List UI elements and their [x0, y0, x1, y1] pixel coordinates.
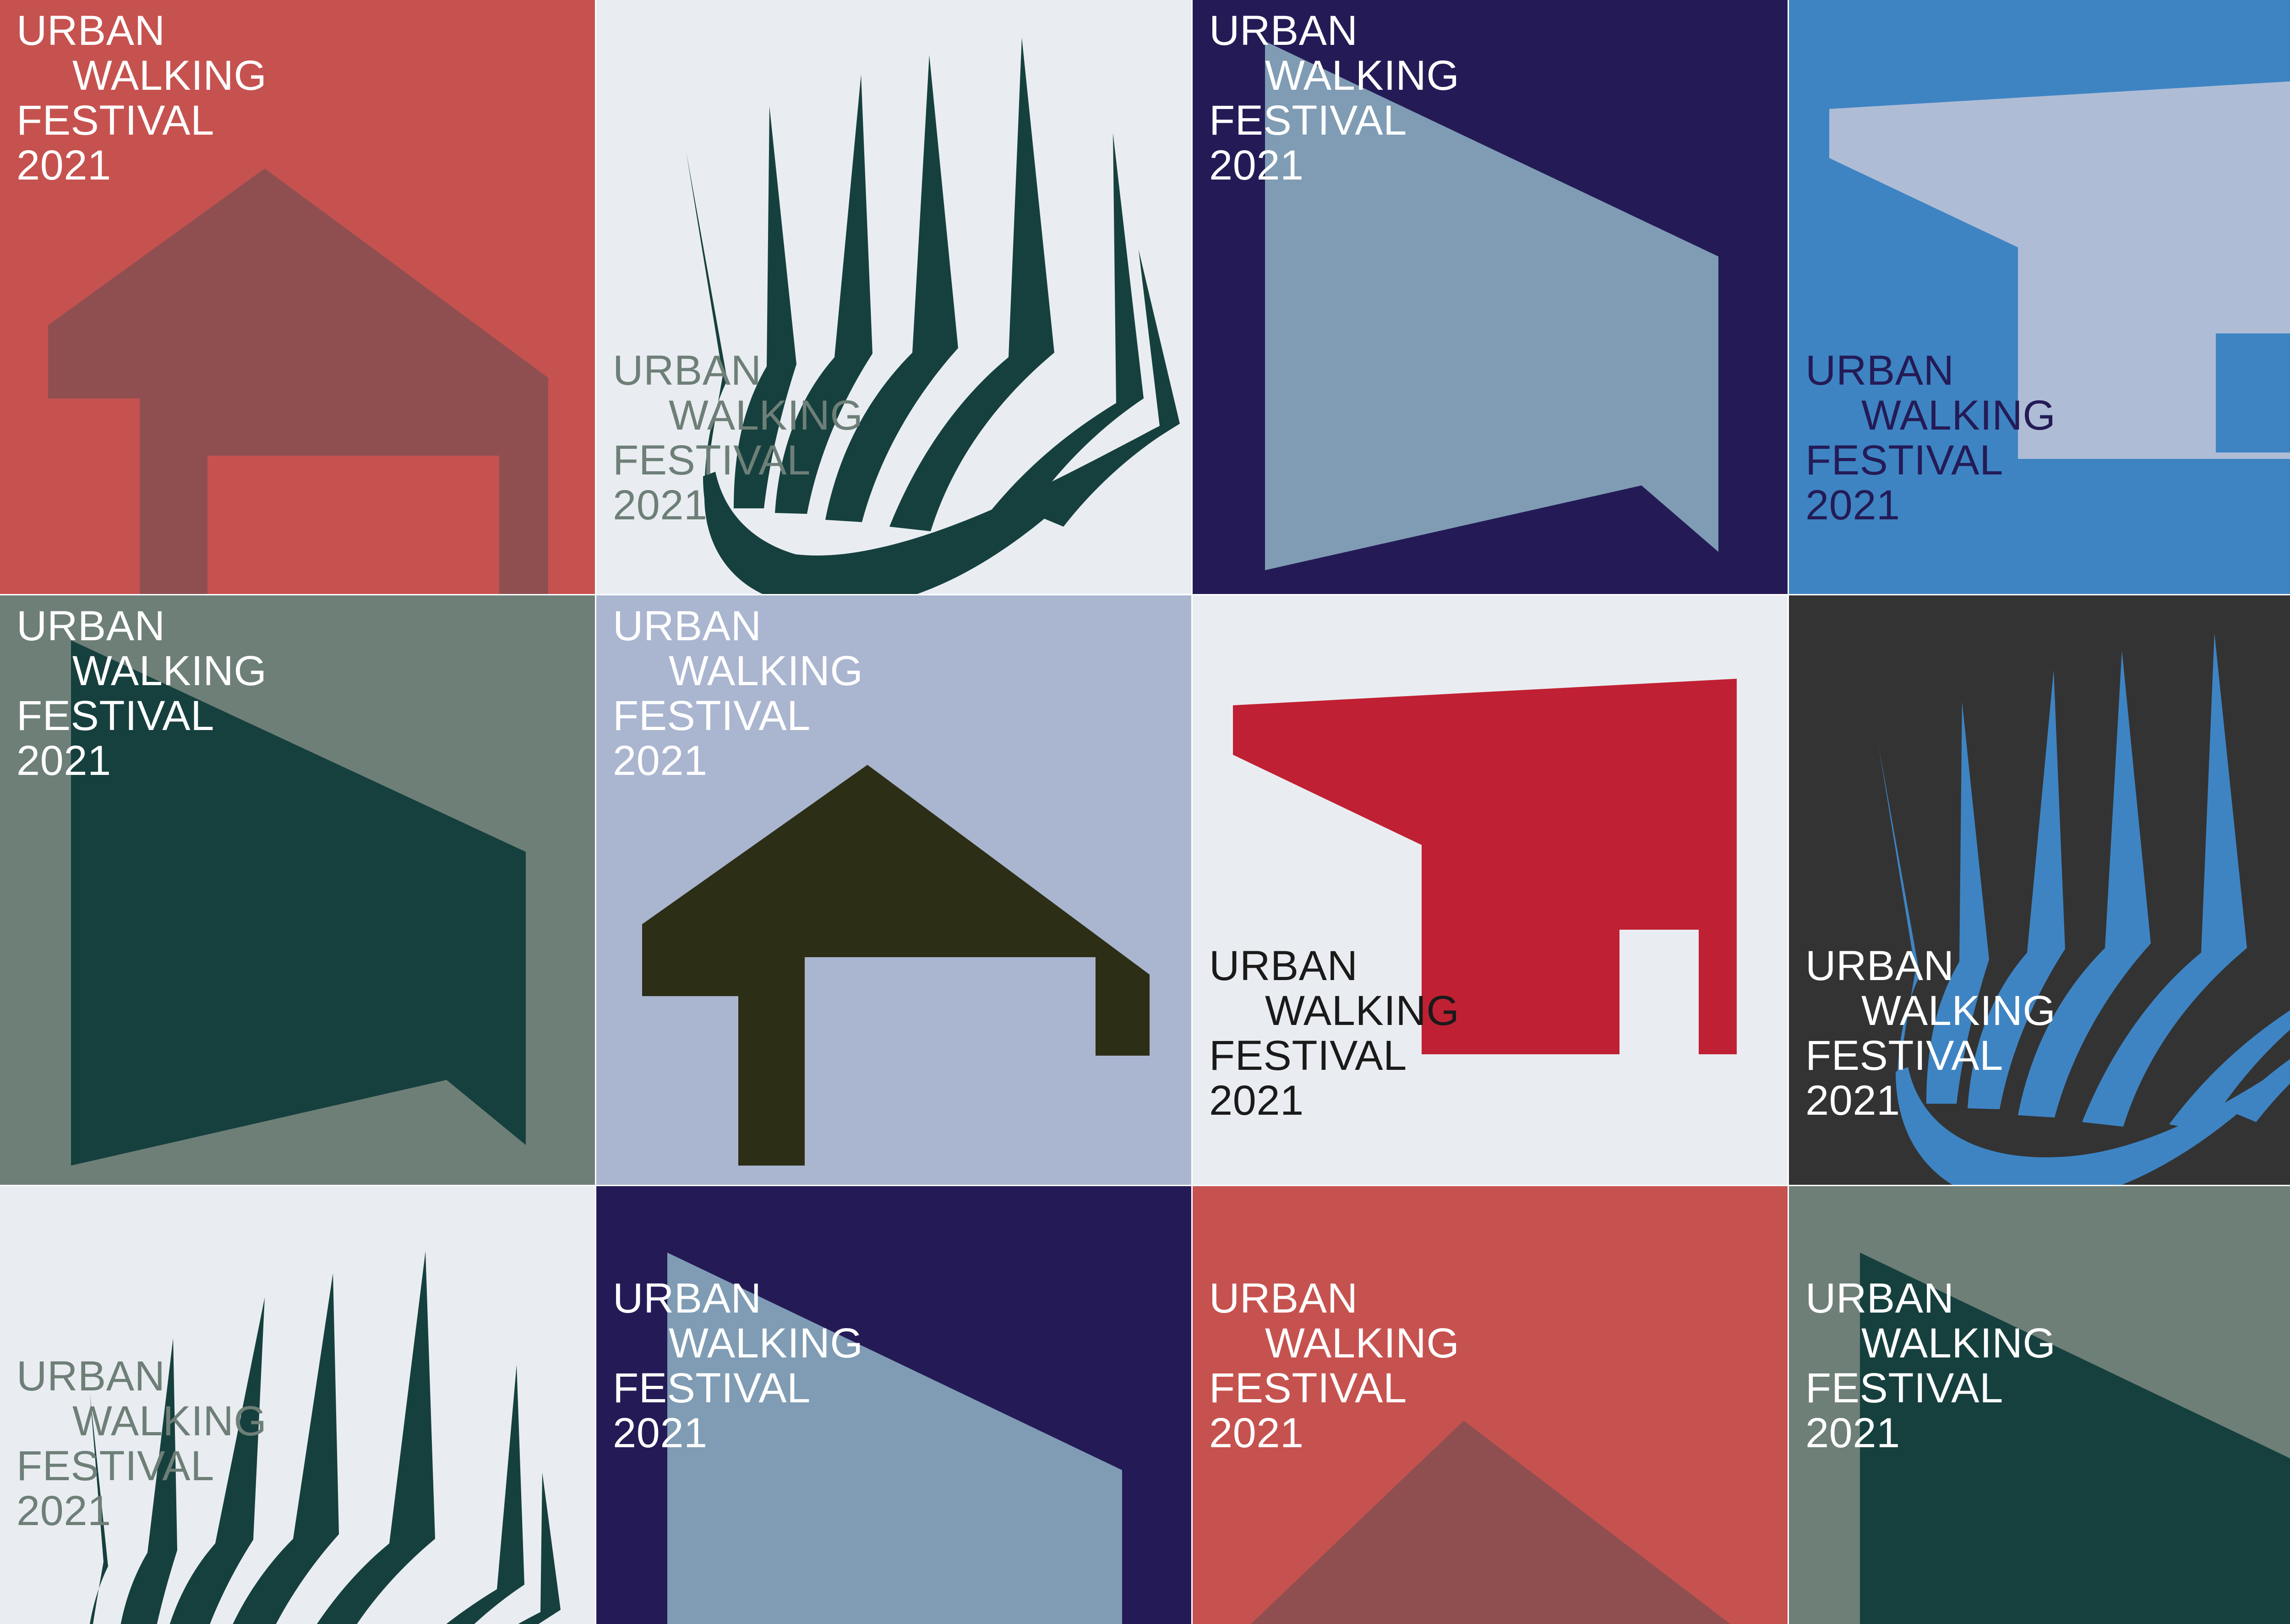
poster-3[interactable]: URBAN WALKING FESTIVAL 2021 — [1193, 0, 1788, 594]
poster-11[interactable]: URBAN WALKING FESTIVAL 2021 — [1193, 1186, 1788, 1624]
poster-title-block: URBAN WALKING FESTIVAL 2021 — [596, 348, 1191, 528]
title-line-urban: URBAN — [1805, 348, 2290, 393]
title-line-walking: WALKING — [1805, 1321, 2290, 1366]
title-line-year: 2021 — [1209, 1411, 1788, 1455]
title-line-festival: FESTIVAL — [613, 1366, 1191, 1411]
title-line-festival: FESTIVAL — [1805, 438, 2290, 483]
poster-8[interactable]: URBAN WALKING FESTIVAL 2021 — [1789, 595, 2290, 1185]
poster-title-block: URBAN WALKING FESTIVAL 2021 — [0, 8, 595, 188]
title-line-walking: WALKING — [1805, 393, 2290, 438]
title-line-urban: URBAN — [1209, 943, 1788, 988]
title-line-festival: FESTIVAL — [1805, 1366, 2290, 1411]
title-line-year: 2021 — [1805, 1411, 2290, 1455]
title-line-urban: URBAN — [16, 8, 595, 53]
title-line-walking: WALKING — [16, 53, 595, 98]
title-line-urban: URBAN — [1209, 1276, 1788, 1321]
title-line-urban: URBAN — [613, 348, 1191, 393]
title-line-festival: FESTIVAL — [1209, 1033, 1788, 1078]
poster-6[interactable]: URBAN WALKING FESTIVAL 2021 — [596, 595, 1191, 1185]
poster-title-block: URBAN WALKING FESTIVAL 2021 — [596, 604, 1191, 783]
title-line-year: 2021 — [1805, 1078, 2290, 1123]
poster-title-block: URBAN WALKING FESTIVAL 2021 — [1789, 348, 2290, 528]
title-line-year: 2021 — [1209, 143, 1788, 188]
title-line-year: 2021 — [613, 738, 1191, 783]
title-line-walking: WALKING — [1209, 53, 1788, 98]
poster-title-block: URBAN WALKING FESTIVAL 2021 — [1789, 1276, 2290, 1455]
title-line-festival: FESTIVAL — [1805, 1033, 2290, 1078]
poster-title-block: URBAN WALKING FESTIVAL 2021 — [1193, 8, 1788, 188]
poster-5[interactable]: URBAN WALKING FESTIVAL 2021 — [0, 595, 595, 1185]
title-line-festival: FESTIVAL — [16, 1444, 595, 1488]
title-line-urban: URBAN — [16, 604, 595, 649]
title-line-urban: URBAN — [1805, 1276, 2290, 1321]
title-line-walking: WALKING — [1805, 988, 2290, 1033]
poster-title-block: URBAN WALKING FESTIVAL 2021 — [1193, 943, 1788, 1123]
title-line-year: 2021 — [613, 1411, 1191, 1455]
title-line-festival: FESTIVAL — [613, 438, 1191, 483]
title-line-walking: WALKING — [16, 649, 595, 693]
title-line-walking: WALKING — [1209, 988, 1788, 1033]
poster-title-block: URBAN WALKING FESTIVAL 2021 — [1193, 1276, 1788, 1455]
poster-10[interactable]: URBAN WALKING FESTIVAL 2021 — [596, 1186, 1191, 1624]
poster-2[interactable]: URBAN WALKING FESTIVAL 2021 — [596, 0, 1191, 594]
title-line-year: 2021 — [1209, 1078, 1788, 1123]
poster-title-block: URBAN WALKING FESTIVAL 2021 — [1789, 943, 2290, 1123]
poster-9[interactable]: URBAN WALKING FESTIVAL 2021 — [0, 1186, 595, 1624]
title-line-festival: FESTIVAL — [16, 98, 595, 143]
title-line-year: 2021 — [16, 1488, 595, 1533]
title-line-year: 2021 — [16, 143, 595, 188]
title-line-festival: FESTIVAL — [1209, 98, 1788, 143]
title-line-year: 2021 — [613, 483, 1191, 528]
poster-7[interactable]: URBAN WALKING FESTIVAL 2021 — [1193, 595, 1788, 1185]
title-line-year: 2021 — [16, 738, 595, 783]
title-line-urban: URBAN — [1209, 8, 1788, 53]
title-line-walking: WALKING — [613, 1321, 1191, 1366]
title-line-walking: WALKING — [613, 393, 1191, 438]
title-line-urban: URBAN — [1805, 943, 2290, 988]
title-line-year: 2021 — [1805, 483, 2290, 528]
title-line-urban: URBAN — [16, 1354, 595, 1399]
title-line-walking: WALKING — [16, 1399, 595, 1444]
title-line-festival: FESTIVAL — [1209, 1366, 1788, 1411]
poster-4[interactable]: URBAN WALKING FESTIVAL 2021 — [1789, 0, 2290, 594]
poster-grid: URBAN WALKING FESTIVAL 2021 URBAN WALKIN… — [0, 0, 2290, 1624]
title-line-urban: URBAN — [613, 1276, 1191, 1321]
title-line-festival: FESTIVAL — [613, 693, 1191, 738]
title-line-walking: WALKING — [613, 649, 1191, 693]
poster-title-block: URBAN WALKING FESTIVAL 2021 — [0, 604, 595, 783]
poster-title-block: URBAN WALKING FESTIVAL 2021 — [0, 1354, 595, 1533]
title-line-festival: FESTIVAL — [16, 693, 595, 738]
poster-1[interactable]: URBAN WALKING FESTIVAL 2021 — [0, 0, 595, 594]
poster-12[interactable]: URBAN WALKING FESTIVAL 2021 — [1789, 1186, 2290, 1624]
title-line-urban: URBAN — [613, 604, 1191, 649]
poster-title-block: URBAN WALKING FESTIVAL 2021 — [596, 1276, 1191, 1455]
title-line-walking: WALKING — [1209, 1321, 1788, 1366]
